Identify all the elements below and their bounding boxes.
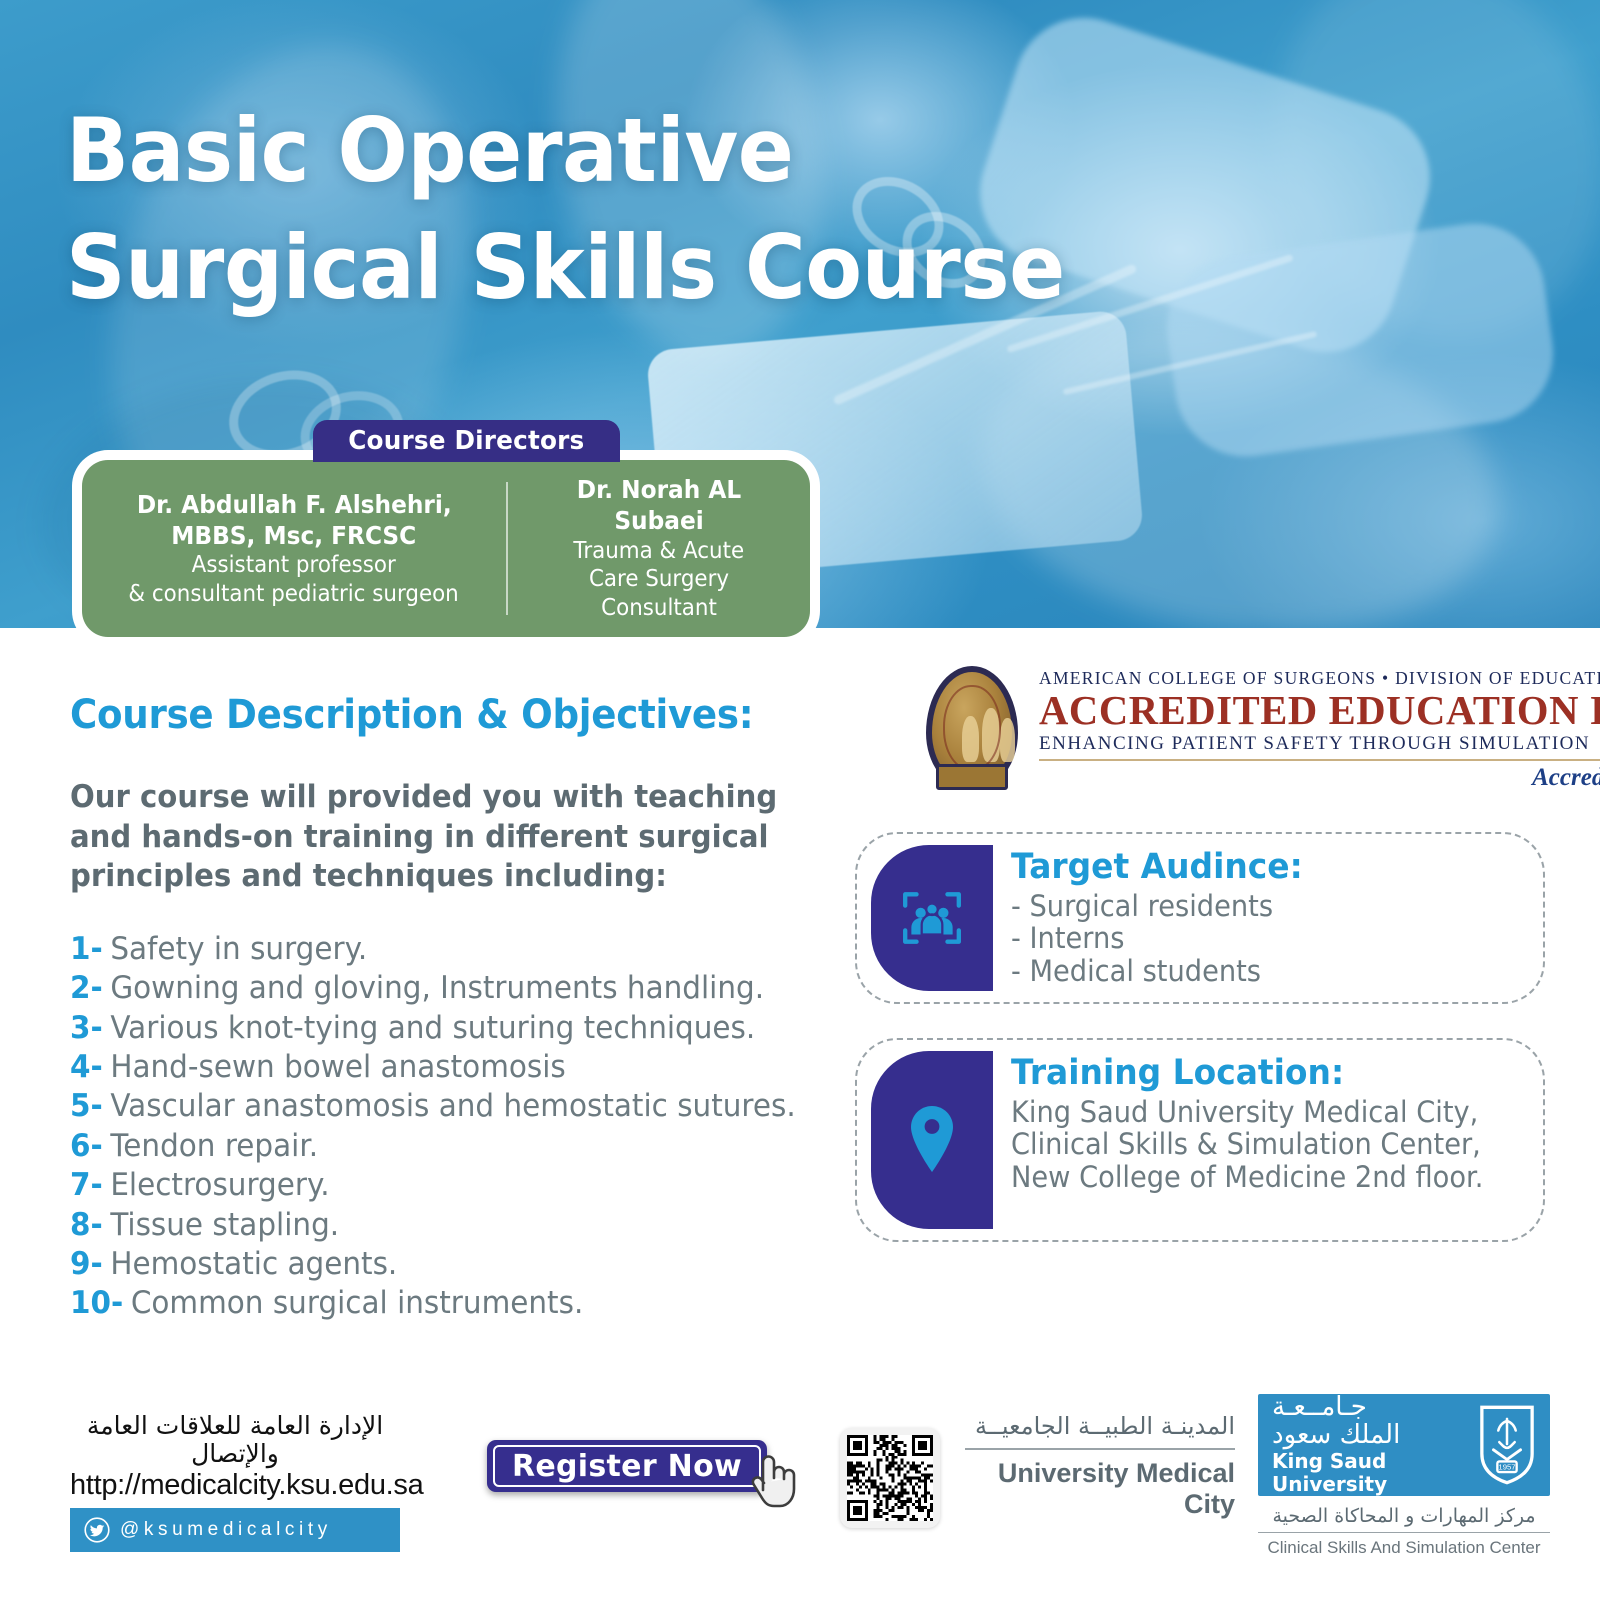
register-now-button[interactable]: Register Now: [487, 1440, 767, 1492]
target-audience-items: - Surgical residents- Interns- Medical s…: [1011, 890, 1525, 988]
poster: Basic Operative Surgical Skills Course C…: [0, 0, 1600, 1600]
ksu-logo-box: جـامــعـة الملك سعود King Saud Universit…: [1258, 1394, 1550, 1496]
director-1-role-line-1: Assistant professor: [192, 551, 396, 580]
director-1: Dr. Abdullah F. Alshehri, MBBS, Msc, FRC…: [82, 460, 506, 637]
objective-item: 5-Vascular anastomosis and hemostatic su…: [70, 1087, 821, 1126]
divider: [965, 1448, 1235, 1450]
ksu-arabic-line-1: جـامــعـة: [1272, 1394, 1478, 1421]
objective-item: 7-Electrosurgery.: [70, 1166, 821, 1205]
section-heading-description: Course Description & Objectives:: [70, 692, 753, 738]
acs-line-2: ACCREDITED EDUCATION INSTITUTES: [1039, 689, 1600, 732]
ksu-founded-year: 1957: [1498, 1463, 1515, 1472]
acs-line-1: AMERICAN COLLEGE OF SURGEONS • DIVISION …: [1039, 668, 1600, 689]
objective-number: 9-: [70, 1245, 103, 1284]
training-location-title: Training Location:: [1011, 1054, 1494, 1093]
title-line-1: Basic Operative: [66, 92, 1194, 209]
contact-block: الإدارة العامة للعلاقات العامة والإتصال …: [70, 1412, 400, 1552]
training-location-lines: King Saud University Medical City,Clinic…: [1011, 1096, 1525, 1194]
audience-item: - Medical students: [1011, 955, 1494, 988]
director-1-credentials: MBBS, Msc, FRCSC: [171, 520, 416, 551]
qr-code[interactable]: [840, 1428, 940, 1528]
director-2: Dr. Norah AL Subaei Trauma & Acute Care …: [508, 460, 810, 637]
director-1-name: Dr. Abdullah F. Alshehri,: [137, 489, 452, 520]
objective-text: Gowning and gloving, Instruments handlin…: [110, 969, 764, 1008]
contact-arabic-label: الإدارة العامة للعلاقات العامة والإتصال: [70, 1412, 400, 1467]
target-audience-box: Target Audince: - Surgical residents- In…: [855, 832, 1545, 1004]
umc-english: University Medical City: [965, 1458, 1235, 1520]
description-intro: Our course will provided you with teachi…: [70, 778, 784, 897]
objective-number: 6-: [70, 1127, 103, 1166]
audience-item: - Interns: [1011, 922, 1494, 955]
map-pin-icon: [901, 1100, 963, 1180]
location-line: King Saud University Medical City,: [1011, 1096, 1494, 1129]
objective-item: 9-Hemostatic agents.: [70, 1245, 821, 1284]
divider: [1258, 1532, 1550, 1533]
objectives-list: 1-Safety in surgery.2-Gowning and glovin…: [70, 930, 821, 1324]
ksu-arabic-line-2: الملك سعود: [1272, 1421, 1478, 1450]
location-line: New College of Medicine 2nd floor.: [1011, 1161, 1494, 1194]
objective-number: 3-: [70, 1009, 103, 1048]
twitter-icon: [84, 1517, 110, 1543]
objective-item: 8-Tissue stapling.: [70, 1206, 821, 1245]
center-english: Clinical Skills And Simulation Center: [1258, 1538, 1550, 1558]
objective-text: Tissue stapling.: [110, 1206, 339, 1245]
acs-line-4: Accredited Education Institute: [1039, 764, 1600, 792]
ksu-center-name: مركز المهارات و المحاكاة الصحية Clinical…: [1258, 1505, 1550, 1558]
twitter-bar[interactable]: @ksumedicalcity: [70, 1508, 400, 1552]
location-line: Clinical Skills & Simulation Center,: [1011, 1128, 1494, 1161]
training-location-box: Training Location: King Saud University …: [855, 1038, 1545, 1242]
audience-icon-panel: [871, 845, 993, 991]
king-saud-university-logo: جـامــعـة الملك سعود King Saud Universit…: [1258, 1394, 1550, 1558]
objective-number: 8-: [70, 1206, 103, 1245]
location-icon-panel: [871, 1051, 993, 1229]
university-medical-city-logo: المدينـة الطبيــة الجامعيــة University …: [965, 1412, 1235, 1520]
training-location-body: Training Location: King Saud University …: [993, 1040, 1543, 1240]
objective-number: 2-: [70, 969, 103, 1008]
objective-number: 7-: [70, 1166, 103, 1205]
objective-text: Tendon repair.: [110, 1127, 318, 1166]
qr-code-image: [847, 1435, 933, 1521]
title-line-2: Surgical Skills Course: [66, 209, 1194, 326]
course-directors-tab: Course Directors: [313, 420, 620, 462]
acs-accreditation-logo: ® AMERICAN COLLEGE OF SURGEONS • DIVISIO…: [920, 655, 1540, 805]
twitter-handle: @ksumedicalcity: [120, 1519, 332, 1541]
divider: [1039, 759, 1600, 761]
ksu-english: King Saud University: [1272, 1450, 1478, 1496]
objective-number: 5-: [70, 1087, 103, 1126]
objective-item: 3-Various knot-tying and suturing techni…: [70, 1009, 821, 1048]
objective-number: 1-: [70, 930, 103, 969]
objective-text: Hand-sewn bowel anastomosis: [110, 1048, 565, 1087]
objective-text: Various knot-tying and suturing techniqu…: [110, 1009, 755, 1048]
objective-number: 4-: [70, 1048, 103, 1087]
target-audience-title: Target Audince:: [1011, 848, 1494, 887]
objective-item: 1-Safety in surgery.: [70, 930, 821, 969]
people-group-icon: [899, 885, 965, 951]
objective-text: Vascular anastomosis and hemostatic sutu…: [110, 1087, 795, 1126]
pointer-hand-icon: [745, 1448, 805, 1514]
website-url[interactable]: http://medicalcity.ksu.edu.sa: [70, 1469, 400, 1502]
objective-number: 10-: [70, 1284, 123, 1323]
objective-text: Electrosurgery.: [110, 1166, 329, 1205]
acs-wordmark: ® AMERICAN COLLEGE OF SURGEONS • DIVISIO…: [1039, 668, 1600, 791]
target-audience-body: Target Audince: - Surgical residents- In…: [993, 834, 1543, 1002]
umc-arabic: المدينـة الطبيــة الجامعيــة: [965, 1412, 1235, 1440]
objective-text: Safety in surgery.: [110, 930, 367, 969]
objective-text: Common surgical instruments.: [131, 1284, 583, 1323]
course-directors-card: Dr. Abdullah F. Alshehri, MBBS, Msc, FRC…: [82, 460, 810, 637]
objective-item: 6-Tendon repair.: [70, 1127, 821, 1166]
ksu-shield-icon: 1957: [1478, 1403, 1536, 1487]
objective-text: Hemostatic agents.: [110, 1245, 397, 1284]
audience-item: - Surgical residents: [1011, 890, 1494, 923]
center-arabic: مركز المهارات و المحاكاة الصحية: [1258, 1505, 1550, 1527]
ksu-wordmark: جـامــعـة الملك سعود King Saud Universit…: [1272, 1394, 1478, 1496]
register-now-label: Register Now: [512, 1449, 742, 1484]
objective-item: 4-Hand-sewn bowel anastomosis: [70, 1048, 821, 1087]
course-directors-label: Course Directors: [348, 426, 584, 456]
acs-seal-icon: [920, 660, 1025, 800]
page-title: Basic Operative Surgical Skills Course: [66, 92, 1194, 326]
acs-line-3: ENHANCING PATIENT SAFETY THROUGH SIMULAT…: [1039, 733, 1600, 755]
director-2-role-line-1: Trauma & Acute: [574, 537, 745, 566]
objective-item: 10-Common surgical instruments.: [70, 1284, 821, 1323]
objective-item: 2-Gowning and gloving, Instruments handl…: [70, 969, 821, 1008]
director-2-role-line-2: Care Surgery Consultant: [530, 565, 789, 623]
director-2-name: Dr. Norah AL Subaei: [530, 474, 789, 537]
director-1-role-line-2: & consultant pediatric surgeon: [129, 580, 459, 609]
